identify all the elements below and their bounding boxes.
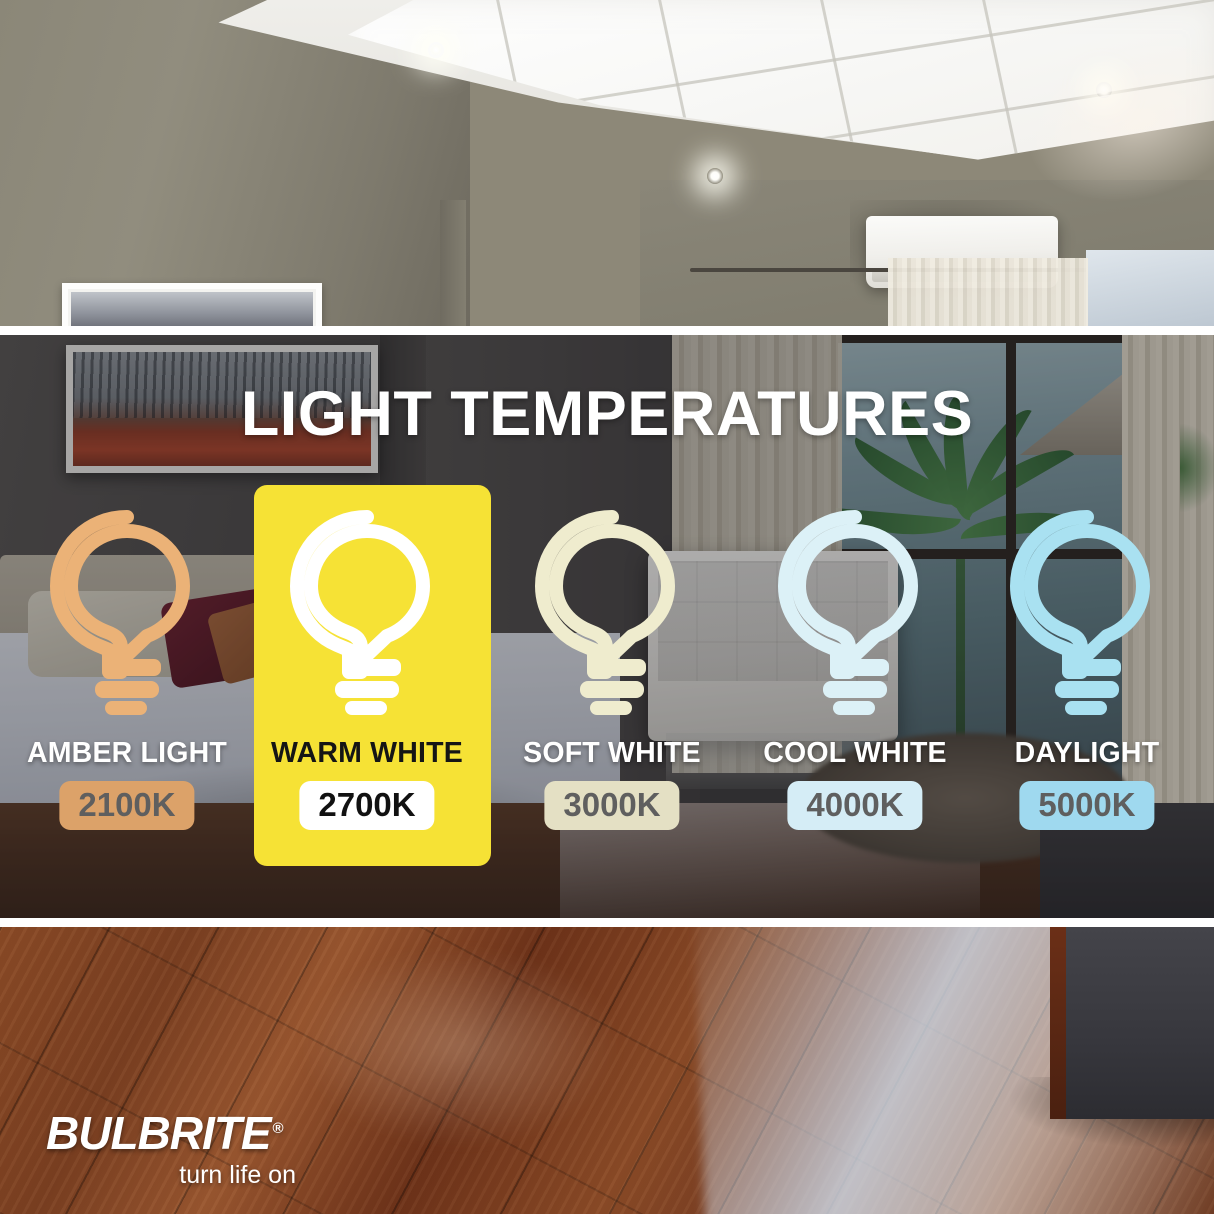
recessed-light-1 [428,42,444,58]
temperature-name: AMBER LIGHT [6,737,248,770]
registered-trademark-icon: ® [273,1120,283,1137]
light-bulb-icon [497,502,727,722]
wall-corner [440,200,466,333]
temperature-name: SOFT WHITE [491,737,733,770]
temperature-card-list: AMBER LIGHT 2100K WARM WHITE 2700K [0,333,1214,918]
kelvin-badge: 4000K [787,781,922,830]
light-bulb-icon [740,502,970,722]
temperature-name: DAYLIGHT [966,737,1208,770]
light-temperatures-infographic: LIGHT TEMPERATURES AMBER LIGHT 2100K [0,0,1214,1214]
kelvin-badge: 5000K [1019,781,1154,830]
temperature-card-amber-light[interactable]: AMBER LIGHT 2100K [12,492,242,873]
kelvin-badge: 2100K [59,781,194,830]
brand-logo: BULBRITE® turn life on [46,1110,366,1188]
temperature-name: COOL WHITE [734,737,976,770]
recessed-light-2 [707,168,723,184]
light-bulb-icon [252,502,482,722]
light-bulb-icon [12,502,242,722]
light-bulb-icon [972,502,1202,722]
curtain-top [888,258,1088,333]
kelvin-badge: 3000K [544,781,679,830]
temperature-card-soft-white[interactable]: SOFT WHITE 3000K [497,492,727,873]
brand-name: BULBRITE® [46,1110,283,1156]
brand-tagline: turn life on [46,1163,296,1188]
temperature-card-warm-white[interactable]: WARM WHITE 2700K [252,492,482,873]
temperature-card-cool-white[interactable]: COOL WHITE 4000K [740,492,970,873]
infographic-content: LIGHT TEMPERATURES AMBER LIGHT 2100K [0,333,1214,918]
temperature-card-daylight[interactable]: DAYLIGHT 5000K [972,492,1202,873]
divider-bottom [0,918,1214,927]
window-top [1086,250,1214,333]
dark-furniture [1064,927,1214,1119]
top-room-photo [0,0,1214,333]
kelvin-badge: 2700K [299,781,434,830]
temperature-name: WARM WHITE [246,737,488,770]
divider-top [0,326,1214,335]
brand-name-text: BULBRITE [46,1107,271,1159]
